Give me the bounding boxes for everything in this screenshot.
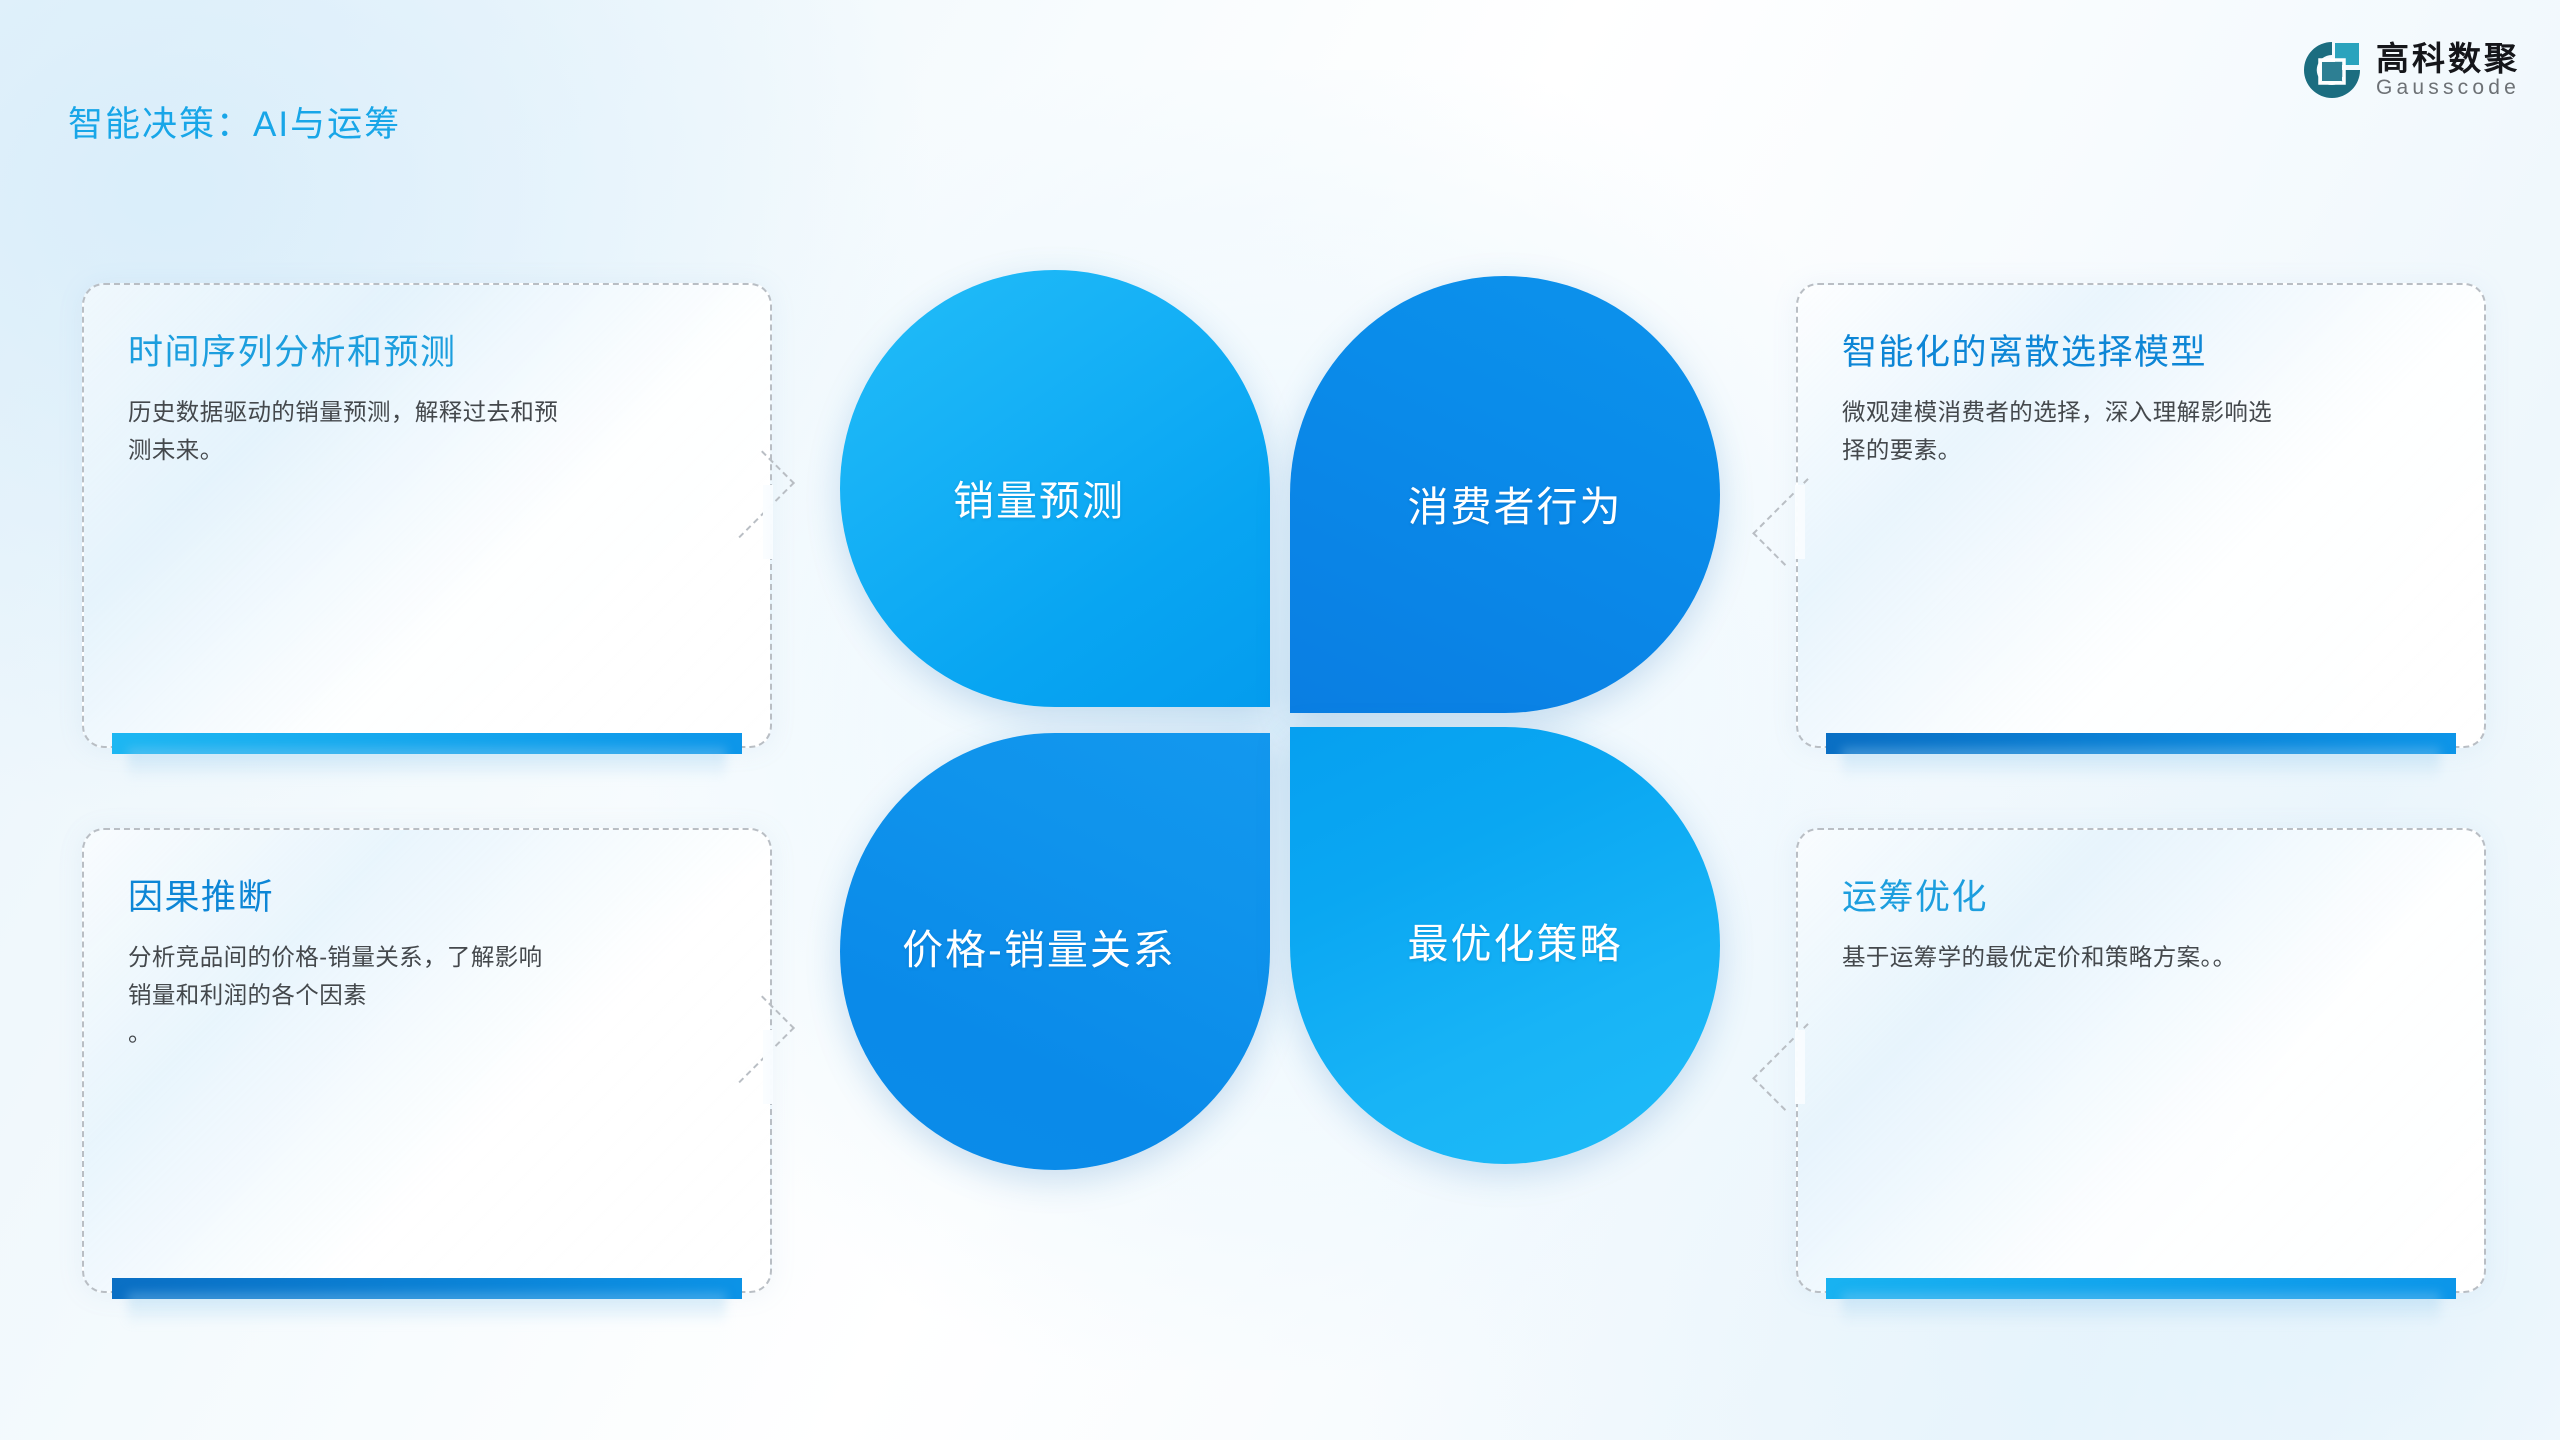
card-operations-optimization[interactable]: 运筹优化 基于运筹学的最优定价和策略方案。。 [1796,828,2486,1293]
petal-label: 最优化策略 [1408,910,1623,970]
connector-gap-mask [1795,485,1805,559]
petal-price-sales-relation[interactable]: 价格-销量关系 [840,733,1270,1170]
petal-label: 销量预测 [953,467,1125,527]
gausscode-g-mark-icon [2302,40,2362,100]
connector-gap-mask [1795,1030,1805,1104]
card-body: 基于运筹学的最优定价和策略方案。。 [1842,938,2440,976]
card-body: 分析竞品间的价格-销量关系，了解影响 销量和利润的各个因素 。 [128,938,726,1052]
card-content: 因果推断 分析竞品间的价格-销量关系，了解影响 销量和利润的各个因素 。 [84,830,770,1291]
four-petal-diagram: 销量预测 消费者行为 价格-销量关系 最优化策略 [840,270,1720,1170]
card-title: 时间序列分析和预测 [128,331,726,375]
card-accent-glow [1842,748,2440,780]
card-content: 智能化的离散选择模型 微观建模消费者的选择，深入理解影响选 择的要素。 [1798,285,2484,746]
petal-sales-forecast[interactable]: 销量预测 [840,270,1270,707]
petal-consumer-behavior[interactable]: 消费者行为 [1290,276,1720,713]
connector-gap-mask [763,1030,773,1104]
card-causal-inference[interactable]: 因果推断 分析竞品间的价格-销量关系，了解影响 销量和利润的各个因素 。 [82,828,772,1293]
card-title: 智能化的离散选择模型 [1842,331,2440,375]
brand-logo-text: 高科数聚 Gausscode [2376,42,2520,99]
page-title: 智能决策：AI与运筹 [68,96,401,147]
card-accent-glow [1842,1293,2440,1325]
card-accent-glow [128,748,726,780]
card-time-series-forecasting[interactable]: 时间序列分析和预测 历史数据驱动的销量预测，解释过去和预 测未来。 [82,283,772,748]
card-title: 因果推断 [128,876,726,920]
petal-label: 消费者行为 [1408,473,1623,533]
brand-name-cn: 高科数聚 [2376,42,2520,76]
petal-optimization-strategy[interactable]: 最优化策略 [1290,727,1720,1164]
brand-logo: 高科数聚 Gausscode [2302,40,2520,100]
card-title: 运筹优化 [1842,876,2440,920]
connector-gap-mask [763,485,773,559]
card-content: 时间序列分析和预测 历史数据驱动的销量预测，解释过去和预 测未来。 [84,285,770,746]
card-accent-glow [128,1293,726,1325]
card-body: 微观建模消费者的选择，深入理解影响选 择的要素。 [1842,393,2440,469]
card-body: 历史数据驱动的销量预测，解释过去和预 测未来。 [128,393,726,469]
petal-label: 价格-销量关系 [902,916,1176,976]
card-content: 运筹优化 基于运筹学的最优定价和策略方案。。 [1798,830,2484,1291]
brand-name-en: Gausscode [2376,77,2520,98]
card-discrete-choice-model[interactable]: 智能化的离散选择模型 微观建模消费者的选择，深入理解影响选 择的要素。 [1796,283,2486,748]
